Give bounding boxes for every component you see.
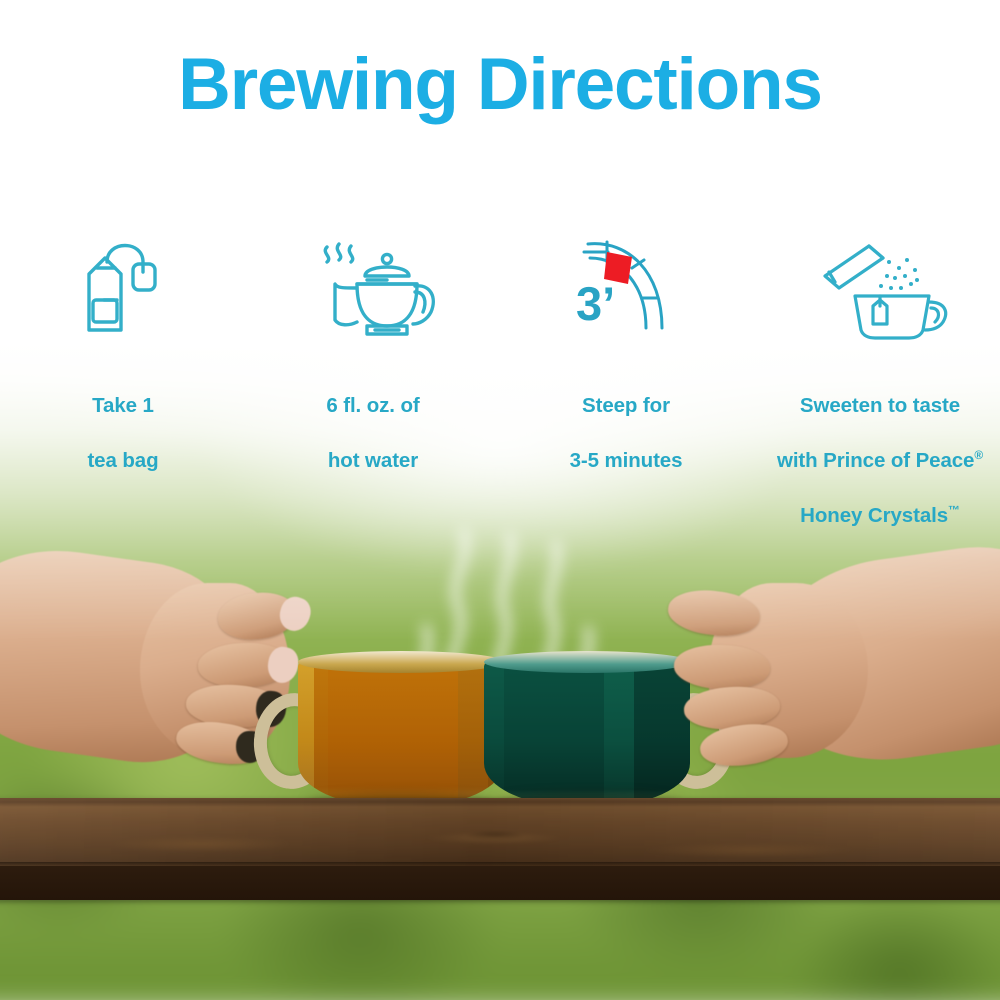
step-3-label-line2: 3-5 minutes [570,449,683,472]
timer-icon: 3’ [562,228,690,340]
trademark-mark: ™ [948,504,960,518]
step-4-label: Sweeten to taste with Prince of Peace® H… [777,365,983,530]
step-2-icon-wrap [303,225,443,343]
step-1-label-line2: tea bag [87,449,158,472]
step-2-label: 6 fl. oz. of hot water [326,365,419,475]
step-1-label: Take 1 tea bag [87,365,158,475]
registered-mark: ® [974,449,983,463]
step-4-icon-wrap [805,225,955,343]
crystal-dots [879,258,919,290]
step-3-label-line1: Steep for [582,394,670,417]
step-2-label-line2: hot water [328,449,418,472]
wooden-rail-underside [0,866,1000,900]
step-1-icon-wrap [63,225,183,343]
step-1-label-line1: Take 1 [92,394,154,417]
yellow-mug-body [298,661,504,807]
honey-crystals-pour-icon [805,228,955,340]
step-take-tea-bag: Take 1 tea bag [0,225,248,530]
timer-value-text: 3’ [576,277,615,330]
page-title: Brewing Directions [0,48,1000,121]
right-hand [660,545,1000,815]
step-4-label-line3: Honey Crystals [800,504,948,527]
step-4-label-line1: Sweeten to taste [800,394,960,417]
step-3-icon-wrap: 3’ [562,225,690,343]
brewing-directions-page: Brewing Directions Take 1 t [0,0,1000,1000]
step-sweeten-honey-crystals: Sweeten to taste with Prince of Peace® H… [755,225,1000,530]
teapot-icon [303,228,443,340]
step-4-label-line2: with Prince of Peace [777,449,974,472]
step-3-label: Steep for 3-5 minutes [570,365,683,475]
step-2-label-line1: 6 fl. oz. of [326,394,419,417]
step-hot-water: 6 fl. oz. of hot water [248,225,498,530]
tea-bag-icon [63,228,183,340]
brewing-steps-row: Take 1 tea bag [0,225,1000,530]
yellow-mug-rim [298,651,504,673]
step-steep-timer: 3’ Steep for 3-5 minutes [501,225,751,530]
yellow-mug [246,655,506,815]
